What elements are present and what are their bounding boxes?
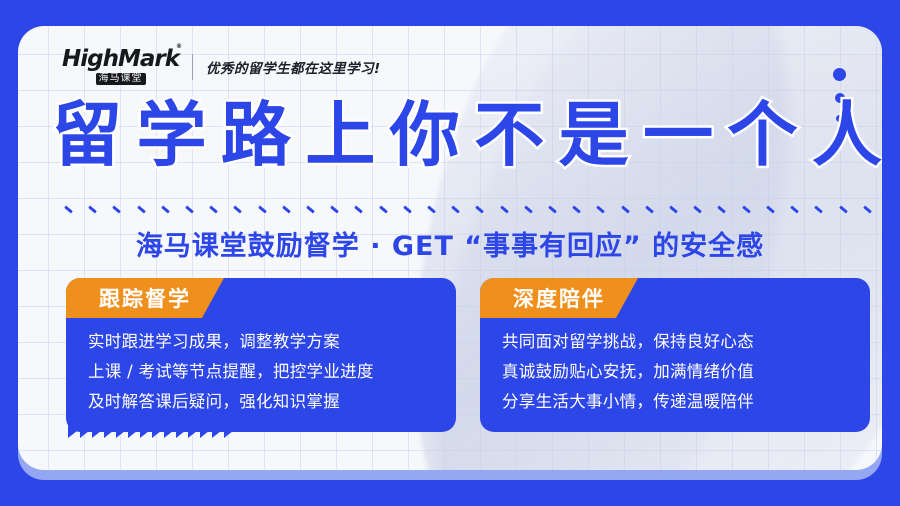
dash-mark-icon bbox=[161, 205, 170, 213]
dash-mark-icon bbox=[403, 205, 412, 213]
headline-char: 留 bbox=[52, 100, 122, 170]
card-title-tracking: 跟踪督学 bbox=[99, 283, 191, 313]
arrow-right-icon bbox=[116, 424, 125, 438]
dot-large-icon bbox=[833, 68, 846, 81]
poster-canvas: HighMark® 海马课堂 优秀的留学生都在这里学习! 留学路上你不是一个人 … bbox=[0, 0, 900, 506]
dash-mark-icon bbox=[645, 205, 654, 213]
logo-wordmark-text: HighMark bbox=[62, 46, 179, 72]
dash-mark-icon bbox=[451, 205, 460, 213]
arrow-right-icon bbox=[140, 424, 149, 438]
arrow-right-icon bbox=[212, 424, 221, 438]
main-panel: HighMark® 海马课堂 优秀的留学生都在这里学习! 留学路上你不是一个人 … bbox=[18, 26, 882, 470]
headline-char: 路 bbox=[221, 100, 291, 170]
dash-mark-icon bbox=[379, 205, 388, 213]
arrow-strip-decoration bbox=[68, 424, 233, 438]
dashed-divider bbox=[64, 202, 872, 216]
dash-mark-icon bbox=[572, 205, 581, 213]
dash-mark-icon bbox=[597, 205, 606, 213]
headline-char: 学 bbox=[136, 100, 206, 170]
card-body-companionship: 共同面对留学挑战，保持良好心态 真诚鼓励贴心安抚，加满情绪价值 分享生活大事小情… bbox=[480, 330, 870, 414]
card-header-tracking: 跟踪督学 bbox=[66, 278, 224, 318]
dash-mark-icon bbox=[306, 205, 315, 213]
dash-mark-icon bbox=[863, 205, 872, 213]
dash-mark-icon bbox=[669, 205, 678, 213]
dash-mark-icon bbox=[282, 205, 291, 213]
logo-wordmark: HighMark® bbox=[62, 48, 179, 71]
dash-mark-icon bbox=[355, 205, 364, 213]
header-divider bbox=[192, 54, 193, 80]
dash-mark-icon bbox=[718, 205, 727, 213]
card-line: 共同面对留学挑战，保持良好心态 bbox=[502, 330, 848, 355]
page-subtitle: 海马课堂鼓励督学 · GET “事事有回应” 的安全感 bbox=[18, 224, 882, 263]
dash-mark-icon bbox=[112, 205, 121, 213]
card-line: 及时解答课后疑问，强化知识掌握 bbox=[88, 390, 434, 415]
feature-card-tracking: 跟踪督学 实时跟进学习成果，调整教学方案 上课 / 考试等节点提醒，把控学业进度… bbox=[66, 278, 456, 432]
card-title-companionship: 深度陪伴 bbox=[513, 283, 605, 313]
dash-mark-icon bbox=[234, 205, 243, 213]
arrow-right-icon bbox=[152, 424, 161, 438]
dash-mark-icon bbox=[839, 205, 848, 213]
arrow-right-icon bbox=[92, 424, 101, 438]
headline-char: 是 bbox=[559, 100, 629, 170]
trademark-icon: ® bbox=[176, 44, 182, 50]
dash-mark-icon bbox=[524, 205, 533, 213]
brand-tagline: 优秀的留学生都在这里学习! bbox=[206, 57, 381, 77]
dash-mark-icon bbox=[209, 205, 218, 213]
arrow-right-icon bbox=[164, 424, 173, 438]
feature-cards: 跟踪督学 实时跟进学习成果，调整教学方案 上课 / 考试等节点提醒，把控学业进度… bbox=[66, 278, 870, 432]
dash-mark-icon bbox=[64, 205, 73, 213]
dash-mark-icon bbox=[88, 205, 97, 213]
feature-card-companionship: 深度陪伴 共同面对留学挑战，保持良好心态 真诚鼓励贴心安抚，加满情绪价值 分享生… bbox=[480, 278, 870, 432]
arrow-right-icon bbox=[128, 424, 137, 438]
dash-mark-icon bbox=[137, 205, 146, 213]
card-body-tracking: 实时跟进学习成果，调整教学方案 上课 / 考试等节点提醒，把控学业进度 及时解答… bbox=[66, 330, 456, 414]
dash-mark-icon bbox=[476, 205, 485, 213]
card-line: 实时跟进学习成果，调整教学方案 bbox=[88, 330, 434, 355]
dash-mark-icon bbox=[693, 205, 702, 213]
arrow-right-icon bbox=[80, 424, 89, 438]
headline-char: 不 bbox=[474, 100, 544, 170]
dash-mark-icon bbox=[427, 205, 436, 213]
brand-header: HighMark® 海马课堂 优秀的留学生都在这里学习! bbox=[62, 48, 381, 85]
dash-mark-icon bbox=[742, 205, 751, 213]
arrow-right-icon bbox=[188, 424, 197, 438]
dash-mark-icon bbox=[185, 205, 194, 213]
dash-mark-icon bbox=[548, 205, 557, 213]
dash-mark-icon bbox=[621, 205, 630, 213]
headline-char: 你 bbox=[390, 100, 460, 170]
headline-char: 上 bbox=[305, 100, 375, 170]
page-title: 留学路上你不是一个人 bbox=[52, 100, 882, 170]
headline-char: 人 bbox=[812, 100, 882, 170]
logo-subtitle: 海马课堂 bbox=[96, 73, 146, 85]
arrow-right-icon bbox=[68, 424, 77, 438]
headline-char: 个 bbox=[728, 100, 798, 170]
arrow-right-icon bbox=[200, 424, 209, 438]
card-header-companionship: 深度陪伴 bbox=[480, 278, 638, 318]
dash-mark-icon bbox=[500, 205, 509, 213]
card-line: 真诚鼓励贴心安抚，加满情绪价值 bbox=[502, 360, 848, 385]
arrow-right-icon bbox=[104, 424, 113, 438]
headline-char: 一 bbox=[643, 100, 713, 170]
logo: HighMark® 海马课堂 bbox=[62, 48, 179, 85]
arrow-right-icon bbox=[224, 424, 233, 438]
dash-mark-icon bbox=[330, 205, 339, 213]
arrow-right-icon bbox=[176, 424, 185, 438]
card-line: 上课 / 考试等节点提醒，把控学业进度 bbox=[88, 360, 434, 385]
dash-mark-icon bbox=[814, 205, 823, 213]
card-line: 分享生活大事小情，传递温暖陪伴 bbox=[502, 390, 848, 415]
dash-mark-icon bbox=[258, 205, 267, 213]
dash-mark-icon bbox=[766, 205, 775, 213]
dash-mark-icon bbox=[790, 205, 799, 213]
